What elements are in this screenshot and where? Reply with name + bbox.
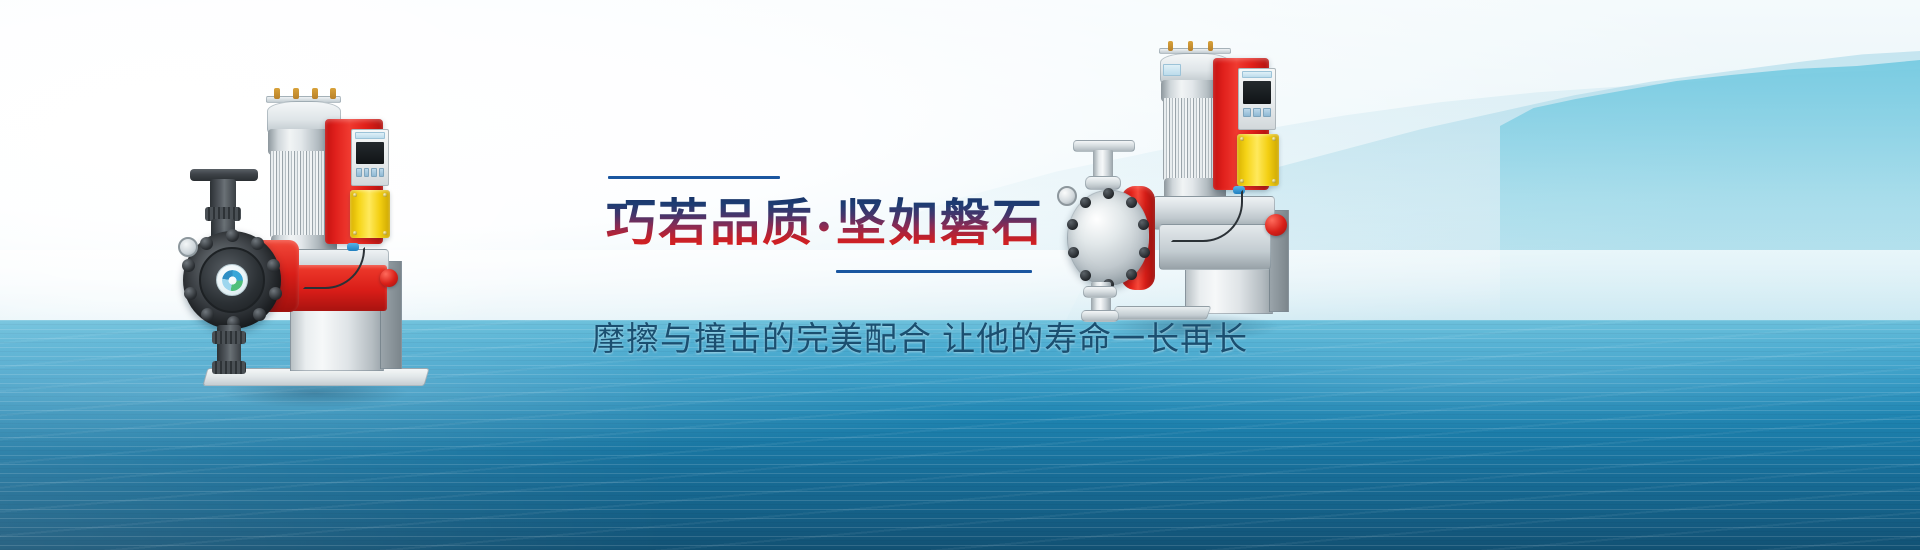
motor-lug-left-3 <box>312 88 318 99</box>
head-bolt <box>182 259 195 272</box>
head-bolt <box>251 237 264 250</box>
terminal-screw-right-4 <box>1272 179 1276 183</box>
control-badge-left <box>355 132 385 139</box>
motor-lug-left-2 <box>293 88 299 99</box>
head-bolt <box>200 237 213 250</box>
rule-bottom <box>836 270 1032 273</box>
control-display-left <box>356 142 384 164</box>
mountain-ridge-right <box>1500 60 1920 360</box>
headline-part-one: 巧若品质 <box>606 195 814 251</box>
promo-banner: 巧若品质•坚如磐石 摩擦与撞击的完美配合 让他的寿命一长再长 <box>0 0 1920 550</box>
terminal-screw-left-2 <box>383 193 387 197</box>
head-bolt <box>226 229 239 242</box>
terminal-screw-right-1 <box>1240 137 1244 141</box>
terminal-screw-left-3 <box>353 231 357 235</box>
bottom-nut-left-2 <box>212 361 246 374</box>
headline-separator-dot: • <box>814 208 836 246</box>
headline: 巧若品质•坚如磐石 <box>600 194 1260 256</box>
terminal-screw-right-2 <box>1272 137 1276 141</box>
control-display-right <box>1243 81 1271 104</box>
control-key-right-3[interactable] <box>1263 108 1271 117</box>
logo-swirl-icon <box>222 270 243 291</box>
terminal-screw-left-1 <box>353 193 357 197</box>
headline-part-two: 坚如磐石 <box>836 195 1044 251</box>
stroke-knob-left[interactable] <box>380 269 398 287</box>
terminal-screw-left-4 <box>383 231 387 235</box>
control-badge-right <box>1242 71 1272 78</box>
subheadline: 摩擦与撞击的完美配合 让他的寿命一长再长 <box>592 312 1248 360</box>
pump-left <box>175 85 515 410</box>
motor-lug-right-1 <box>1168 41 1173 51</box>
head-bolt <box>184 287 197 300</box>
control-key-left-4[interactable] <box>379 168 385 177</box>
head-bolt <box>253 308 266 321</box>
pressure-gauge-left <box>178 237 198 257</box>
head-bolt <box>267 259 280 272</box>
control-key-left-3[interactable] <box>371 168 377 177</box>
bottom-nut-left <box>212 331 246 344</box>
control-keypad-left[interactable] <box>356 168 384 177</box>
stroke-adjust-knob-right[interactable] <box>1265 214 1287 236</box>
motor-nameplate-right <box>1163 64 1181 76</box>
head-bolt <box>201 308 214 321</box>
control-key-right-1[interactable] <box>1243 108 1251 117</box>
rule-top <box>608 176 780 179</box>
head-bolt <box>269 287 282 300</box>
control-key-right-2[interactable] <box>1253 108 1261 117</box>
motor-lug-right-2 <box>1188 41 1193 51</box>
motor-lug-left-1 <box>274 88 280 99</box>
control-keypad-right[interactable] <box>1243 108 1271 117</box>
brand-logo-badge-left <box>216 264 248 296</box>
control-key-left-2[interactable] <box>364 168 370 177</box>
motor-lug-right-3 <box>1208 41 1213 51</box>
control-key-left-1[interactable] <box>356 168 362 177</box>
motor-lug-left-4 <box>330 88 336 99</box>
